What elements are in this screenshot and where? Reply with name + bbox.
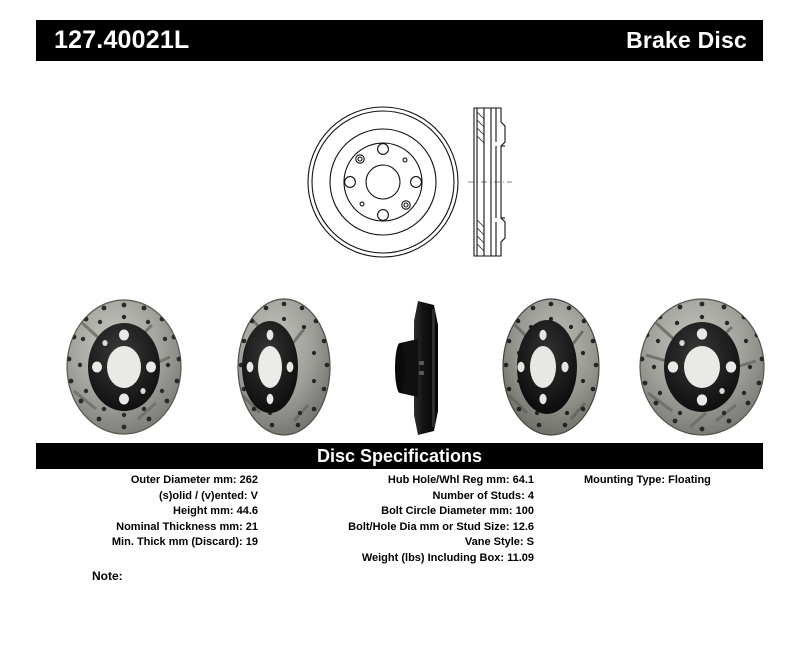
spec-row: Vane Style: S <box>264 535 534 551</box>
disc-specifications-title: Disc Specifications <box>317 447 482 465</box>
spec-value: S <box>527 536 534 548</box>
spec-value: 4 <box>528 490 534 502</box>
disc-specifications-table: Outer Diameter mm: 262 (s)olid / (v)ente… <box>36 473 763 573</box>
part-number: 127.40021L <box>54 28 189 53</box>
spec-row: Weight (lbs) Including Box: 11.09 <box>264 551 534 567</box>
spec-value: 100 <box>516 505 534 517</box>
spec-label: Mounting Type: <box>584 474 665 486</box>
spec-sheet-page: 127.40021L Brake Disc <box>0 0 800 655</box>
spec-row: Min. Thick mm (Discard): 19 <box>36 535 258 551</box>
rotor-photo-left-three-quarter <box>212 295 357 445</box>
spec-value: 12.6 <box>513 521 534 533</box>
spec-label: (s)olid / (v)ented: <box>159 490 248 502</box>
spec-row: Outer Diameter mm: 262 <box>36 473 258 489</box>
rotor-photo-right-front-face <box>630 295 780 445</box>
spec-label: Bolt Circle Diameter mm: <box>381 505 512 517</box>
spec-value: 21 <box>246 521 258 533</box>
spec-row: Mounting Type: Floating <box>546 473 763 489</box>
spec-column-dimensions: Outer Diameter mm: 262 (s)olid / (v)ente… <box>36 473 258 551</box>
spec-label: Height mm: <box>173 505 234 517</box>
spec-value: 262 <box>240 474 258 486</box>
spec-row: Height mm: 44.6 <box>36 504 258 520</box>
spec-label: Number of Studs: <box>433 490 525 502</box>
spec-label: Hub Hole/Whl Reg mm: <box>388 474 510 486</box>
spec-row: Bolt/Hole Dia mm or Stud Size: 12.6 <box>264 520 534 536</box>
spec-value: 19 <box>246 536 258 548</box>
spec-row: Number of Studs: 4 <box>264 489 534 505</box>
note-label: Note: <box>92 569 123 583</box>
spec-row: (s)olid / (v)ented: V <box>36 489 258 505</box>
spec-row: Hub Hole/Whl Reg mm: 64.1 <box>264 473 534 489</box>
spec-label: Nominal Thickness mm: <box>116 521 243 533</box>
rotor-photo-edge-profile <box>388 295 458 445</box>
page-header-bar: 127.40021L Brake Disc <box>36 20 763 61</box>
spec-row: Nominal Thickness mm: 21 <box>36 520 258 536</box>
rotor-photo-right-three-quarter <box>485 295 630 445</box>
spec-label: Outer Diameter mm: <box>131 474 237 486</box>
spec-value: 64.1 <box>513 474 534 486</box>
product-photo-row <box>30 295 770 440</box>
spec-label: Vane Style: <box>465 536 524 548</box>
spec-value: V <box>251 490 258 502</box>
spec-value: 11.09 <box>507 552 534 564</box>
rotor-outline-svg <box>305 92 520 272</box>
spec-column-mounting: Mounting Type: Floating <box>546 473 763 489</box>
note-section: Note: <box>92 569 132 583</box>
spec-value: Floating <box>668 474 711 486</box>
spec-value: 44.6 <box>237 505 258 517</box>
spec-column-hub-and-hardware: Hub Hole/Whl Reg mm: 64.1 Number of Stud… <box>264 473 534 567</box>
spec-label: Weight (lbs) Including Box: <box>362 552 504 564</box>
spec-row: Bolt Circle Diameter mm: 100 <box>264 504 534 520</box>
technical-drawing <box>305 92 520 272</box>
spec-label: Min. Thick mm (Discard): <box>112 536 243 548</box>
spec-label: Bolt/Hole Dia mm or Stud Size: <box>348 521 509 533</box>
page-title: Brake Disc <box>626 29 747 52</box>
rotor-photo-left-front-face-angled <box>52 295 202 445</box>
disc-specifications-bar: Disc Specifications <box>36 443 763 469</box>
